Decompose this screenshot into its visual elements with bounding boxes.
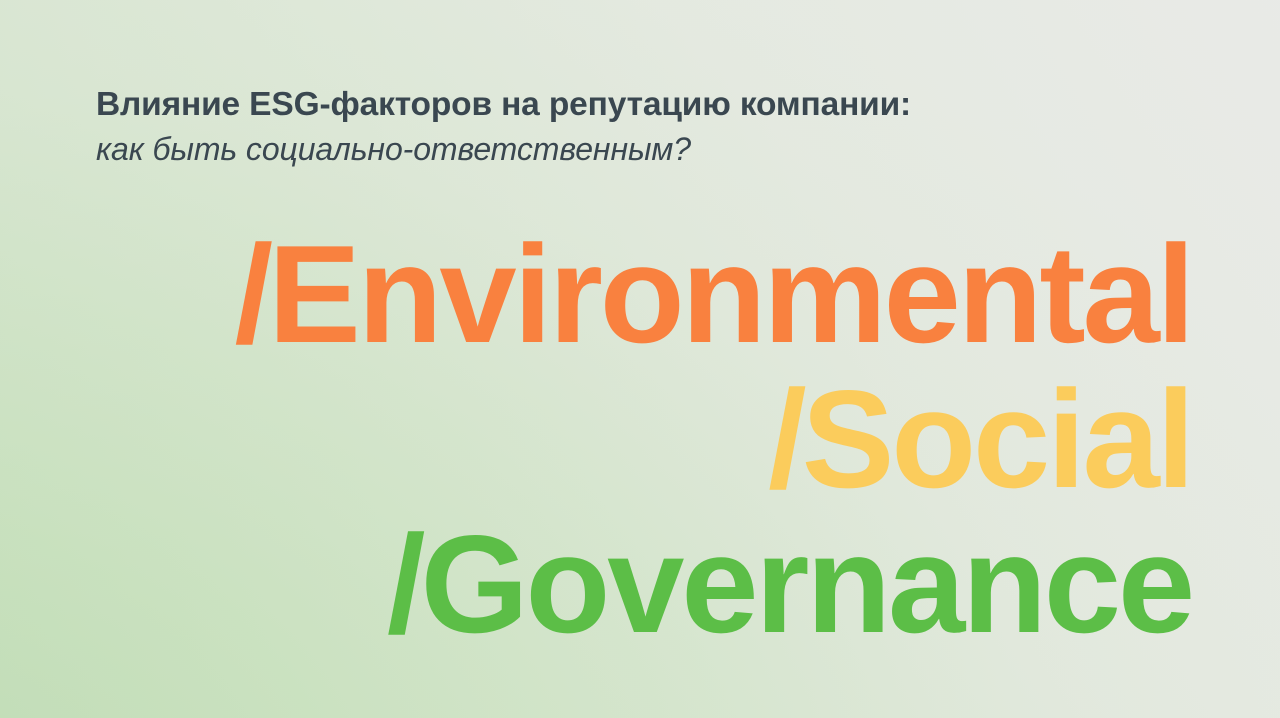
slash-glyph: / xyxy=(768,362,802,517)
page-subtitle: как быть социально-ответственным? xyxy=(96,127,1206,172)
slash-glyph: / xyxy=(235,217,269,372)
esg-word-social: /Social xyxy=(0,367,1192,512)
esg-word-environmental: /Environmental xyxy=(0,222,1192,367)
esg-label-social: Social xyxy=(802,362,1192,517)
page-title: Влияние ESG-факторов на репутацию компан… xyxy=(96,82,1206,127)
heading-block: Влияние ESG-факторов на репутацию компан… xyxy=(96,82,1206,172)
esg-word-stack: /Environmental /Social /Governance xyxy=(0,222,1192,657)
slash-glyph: / xyxy=(387,507,421,662)
esg-label-environmental: Environmental xyxy=(268,217,1192,372)
esg-label-governance: Governance xyxy=(421,507,1192,662)
slide-canvas: Влияние ESG-факторов на репутацию компан… xyxy=(0,0,1280,718)
esg-word-governance: /Governance xyxy=(0,512,1192,657)
